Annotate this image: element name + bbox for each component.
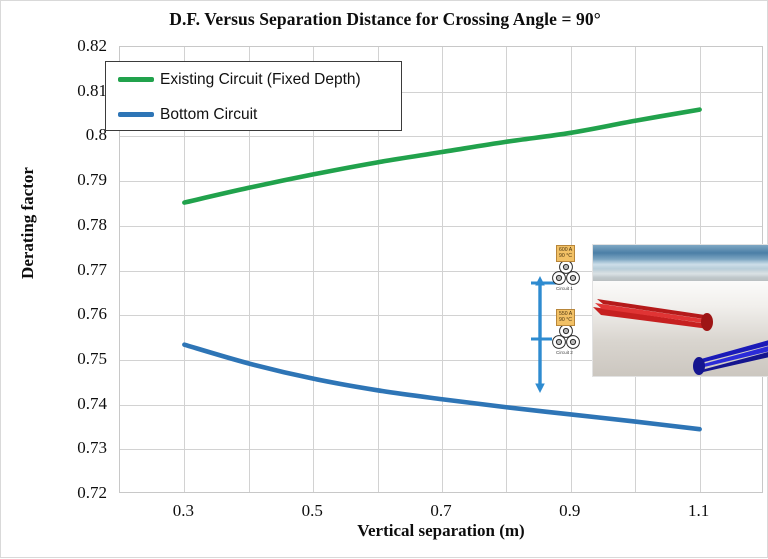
y-tick-label: 0.75 xyxy=(39,350,107,367)
red-cable-bundle xyxy=(593,299,713,331)
circuit-2-label: Circuit 2 xyxy=(556,350,573,355)
y-tick-label: 0.82 xyxy=(39,37,107,54)
y-axis-title: Derating factor xyxy=(18,133,38,313)
legend-item[interactable]: Existing Circuit (Fixed Depth) xyxy=(106,62,401,97)
chart-legend: Existing Circuit (Fixed Depth)Bottom Cir… xyxy=(105,61,402,131)
circuit-2-trefoil-icon xyxy=(553,325,580,349)
circuit-1-label: Circuit 1 xyxy=(556,286,573,291)
circuit-2-rating-box: 550 A 90 °C xyxy=(556,309,575,326)
y-tick-label: 0.79 xyxy=(39,171,107,188)
y-tick-label: 0.77 xyxy=(39,261,107,278)
legend-item-label: Bottom Circuit xyxy=(160,106,257,124)
circuit-2-temperature: 90 °C xyxy=(559,317,572,323)
x-tick-label: 0.5 xyxy=(282,502,342,519)
y-tick-label: 0.81 xyxy=(39,82,107,99)
y-tick-label: 0.76 xyxy=(39,305,107,322)
x-tick-label: 0.9 xyxy=(540,502,600,519)
legend-item[interactable]: Bottom Circuit xyxy=(106,97,401,132)
legend-color-swatch xyxy=(118,112,154,117)
circuit-1-temperature: 90 °C xyxy=(559,253,572,259)
inset-cable-crossing-photo xyxy=(592,244,768,377)
inset-circuit-diagram: 600 A 90 °C Circuit 1 550 A 90 °C Circui… xyxy=(518,243,598,393)
photo-cables-svg xyxy=(593,245,768,377)
circuit-1-trefoil-icon xyxy=(553,261,580,285)
circuit-1-rating-box: 600 A 90 °C xyxy=(556,245,575,262)
chart-frame: D.F. Versus Separation Distance for Cros… xyxy=(0,0,768,558)
y-tick-label: 0.73 xyxy=(39,439,107,456)
legend-color-swatch xyxy=(118,77,154,82)
page-title: D.F. Versus Separation Distance for Cros… xyxy=(1,9,768,30)
blue-cable-bundle xyxy=(693,329,768,375)
legend-item-label: Existing Circuit (Fixed Depth) xyxy=(160,71,361,89)
x-tick-label: 1.1 xyxy=(669,502,729,519)
separation-arrow-icon xyxy=(531,276,560,393)
y-tick-label: 0.78 xyxy=(39,216,107,233)
x-tick-label: 0.7 xyxy=(411,502,471,519)
y-tick-label: 0.72 xyxy=(39,484,107,501)
y-tick-label: 0.74 xyxy=(39,395,107,412)
x-tick-label: 0.3 xyxy=(153,502,213,519)
x-axis-title: Vertical separation (m) xyxy=(119,521,763,541)
y-tick-label: 0.8 xyxy=(39,126,107,143)
